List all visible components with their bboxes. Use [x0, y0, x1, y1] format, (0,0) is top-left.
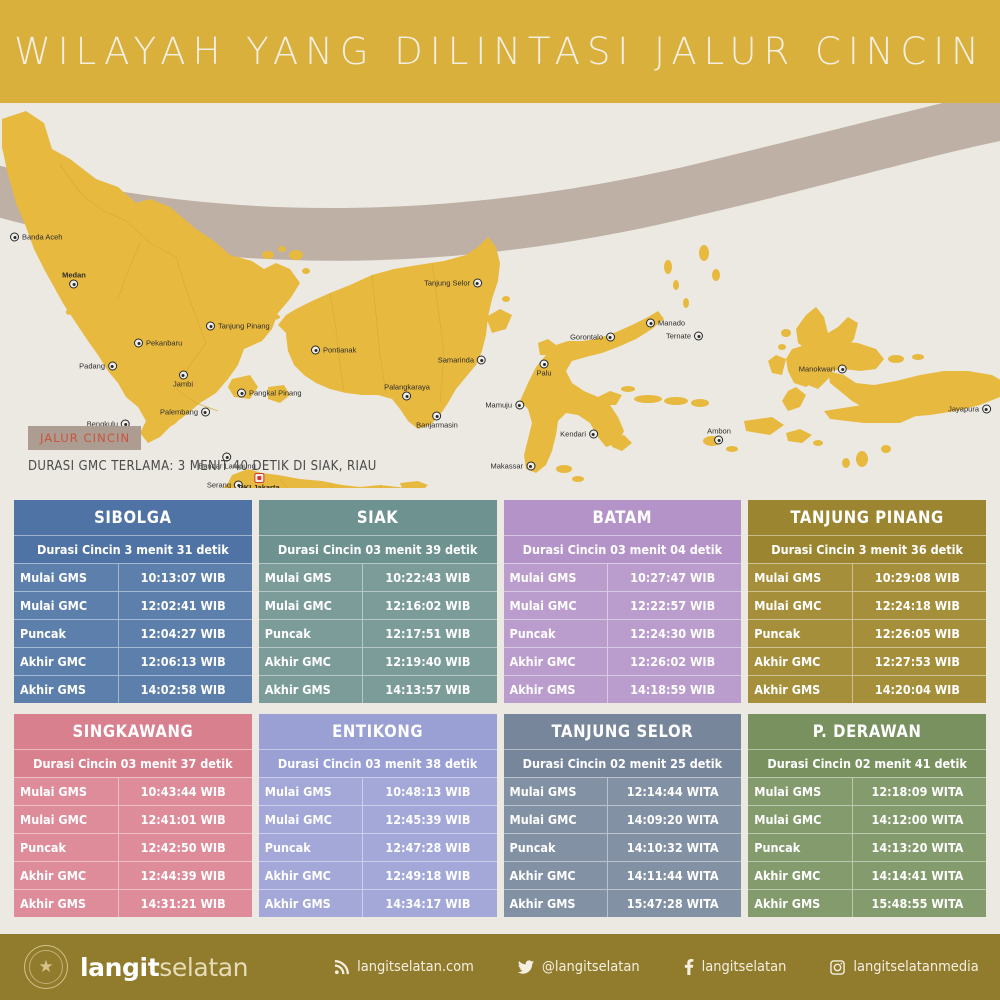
- timing-label: Puncak: [504, 834, 609, 861]
- timing-value: 14:20:04 WIB: [853, 676, 986, 703]
- timing-value: 12:18:09 WITA: [853, 778, 986, 805]
- brand-name-light: selatan: [159, 953, 248, 982]
- card-timing-row: Akhir GMS14:31:21 WIB: [14, 889, 252, 917]
- timing-label: Puncak: [748, 834, 853, 861]
- city-marker: Banjarmasin: [416, 412, 458, 431]
- city-card: SIAKDurasi Cincin 03 menit 39 detikMulai…: [259, 500, 497, 703]
- timing-value: 12:17:51 WIB: [363, 620, 496, 647]
- brand-name-bold: langit: [80, 953, 159, 982]
- card-city-title: SIBOLGA: [14, 500, 252, 535]
- city-dot-icon: [69, 280, 78, 289]
- city-dot-icon: [108, 362, 117, 371]
- timing-value: 12:47:28 WIB: [363, 834, 496, 861]
- city-dot-icon: [515, 401, 524, 410]
- timing-label: Akhir GMS: [259, 676, 364, 703]
- social-link[interactable]: langitselatan.com: [334, 959, 474, 975]
- timing-value: 12:24:30 WIB: [608, 620, 741, 647]
- social-handle: langitselatan: [702, 959, 787, 975]
- card-timing-row: Mulai GMS10:43:44 WIB: [14, 777, 252, 805]
- twitter-icon: [518, 960, 534, 975]
- card-timing-row: Mulai GMS12:14:44 WITA: [504, 777, 742, 805]
- city-dot-icon: [178, 371, 187, 380]
- city-dot-icon: [403, 392, 412, 401]
- timing-label: Akhir GMC: [259, 648, 364, 675]
- timing-value: 12:06:13 WIB: [119, 648, 252, 675]
- timing-value: 14:12:00 WITA: [853, 806, 986, 833]
- instagram-icon: [830, 960, 845, 975]
- city-card: P. DERAWANDurasi Cincin 02 menit 41 deti…: [748, 714, 986, 917]
- social-handle: langitselatanmedia: [853, 959, 978, 975]
- card-timing-row: Mulai GMC14:09:20 WITA: [504, 805, 742, 833]
- card-city-title: TANJUNG PINANG: [748, 500, 986, 535]
- timing-label: Akhir GMS: [14, 890, 119, 917]
- langitselatan-seal-icon: ★: [24, 945, 68, 989]
- city-marker: Pangkal Pinang: [237, 389, 302, 398]
- city-dot-icon: [838, 365, 847, 374]
- timing-label: Mulai GMS: [259, 778, 364, 805]
- city-label: Jambi: [173, 380, 193, 389]
- card-timing-row: Puncak12:26:05 WIB: [748, 619, 986, 647]
- city-marker: Tanjung Pinang: [206, 322, 270, 331]
- timing-label: Puncak: [748, 620, 853, 647]
- social-link[interactable]: @langitselatan: [518, 959, 640, 975]
- city-label: Pekanbaru: [146, 339, 182, 348]
- city-marker: Pekanbaru: [134, 339, 182, 348]
- timing-value: 10:13:07 WIB: [119, 564, 252, 591]
- timing-label: Mulai GMS: [504, 564, 609, 591]
- city-dot-icon: [526, 462, 535, 471]
- legend-note: DURASI GMC TERLAMA: 3 MENIT 40 DETIK DI …: [28, 459, 377, 474]
- timing-label: Akhir GMC: [14, 648, 119, 675]
- city-dot-icon: [311, 346, 320, 355]
- capital-city-dot-icon: [254, 473, 264, 483]
- city-label: Mamuju: [485, 401, 512, 410]
- timing-value: 12:42:50 WIB: [119, 834, 252, 861]
- city-marker: DKI Jakarta: [238, 473, 279, 488]
- brand-wordmark: langitselatan: [80, 953, 248, 982]
- timing-label: Mulai GMS: [14, 564, 119, 591]
- page-footer: ★ langitselatan langitselatan.com@langit…: [0, 934, 1000, 1000]
- timing-label: Puncak: [504, 620, 609, 647]
- brand-logo: ★ langitselatan: [24, 945, 248, 989]
- timing-value: 10:22:43 WIB: [363, 564, 496, 591]
- card-timing-row: Akhir GMC12:19:40 WIB: [259, 647, 497, 675]
- city-marker: Palembang: [160, 408, 210, 417]
- city-label: Makassar: [490, 462, 523, 471]
- timing-value: 12:49:18 WIB: [363, 862, 496, 889]
- card-timing-row: Mulai GMC12:24:18 WIB: [748, 591, 986, 619]
- card-timing-row: Mulai GMS10:13:07 WIB: [14, 563, 252, 591]
- city-label: Pangkal Pinang: [249, 389, 302, 398]
- card-timing-row: Mulai GMC12:16:02 WIB: [259, 591, 497, 619]
- timing-label: Akhir GMC: [748, 648, 853, 675]
- timing-value: 14:31:21 WIB: [119, 890, 252, 917]
- timing-value: 15:48:55 WITA: [853, 890, 986, 917]
- card-city-title: SINGKAWANG: [14, 714, 252, 749]
- timing-label: Akhir GMC: [504, 862, 609, 889]
- timing-label: Mulai GMC: [748, 806, 853, 833]
- timing-value: 14:14:41 WITA: [853, 862, 986, 889]
- city-dot-icon: [606, 333, 615, 342]
- legend-jalur-cincin-badge: JALUR CINCIN: [28, 426, 141, 450]
- card-city-title: BATAM: [504, 500, 742, 535]
- card-timing-row: Mulai GMC12:41:01 WIB: [14, 805, 252, 833]
- city-marker: Banda Aceh: [10, 233, 62, 242]
- timing-value: 12:24:18 WIB: [853, 592, 986, 619]
- city-marker: Medan: [62, 270, 86, 289]
- timing-value: 12:44:39 WIB: [119, 862, 252, 889]
- city-dot-icon: [201, 408, 210, 417]
- card-duration-subtitle: Durasi Cincin 03 menit 38 detik: [259, 749, 497, 777]
- timing-label: Mulai GMC: [504, 592, 609, 619]
- timing-value: 10:43:44 WIB: [119, 778, 252, 805]
- city-dot-icon: [134, 339, 143, 348]
- timing-value: 12:26:05 WIB: [853, 620, 986, 647]
- city-marker: Palangkaraya: [384, 382, 430, 401]
- timing-label: Mulai GMC: [14, 592, 119, 619]
- timing-label: Akhir GMC: [259, 862, 364, 889]
- card-timing-row: Akhir GMC12:49:18 WIB: [259, 861, 497, 889]
- city-marker: Mamuju: [485, 401, 524, 410]
- city-marker: Jambi: [173, 371, 193, 390]
- timing-label: Puncak: [259, 834, 364, 861]
- timing-label: Mulai GMS: [748, 778, 853, 805]
- city-marker: Tanjung Selor: [424, 279, 482, 288]
- card-duration-subtitle: Durasi Cincin 03 menit 39 detik: [259, 535, 497, 563]
- timing-value: 12:16:02 WIB: [363, 592, 496, 619]
- timing-value: 15:47:28 WITA: [608, 890, 741, 917]
- city-marker: Jayapura: [948, 405, 991, 414]
- timing-value: 12:14:44 WITA: [608, 778, 741, 805]
- card-timing-row: Mulai GMS10:29:08 WIB: [748, 563, 986, 591]
- city-marker: Pontianak: [311, 346, 356, 355]
- city-label: Palangkaraya: [384, 383, 430, 392]
- city-label: Ternate: [666, 332, 691, 341]
- city-dot-icon: [646, 319, 655, 328]
- city-label: DKI Jakarta: [238, 483, 279, 488]
- card-timing-row: Mulai GMC14:12:00 WITA: [748, 805, 986, 833]
- timing-value: 10:48:13 WIB: [363, 778, 496, 805]
- city-card: TANJUNG SELORDurasi Cincin 02 menit 25 d…: [504, 714, 742, 917]
- city-label: Pontianak: [323, 346, 356, 355]
- city-marker: Gorontalo: [570, 333, 615, 342]
- card-city-title: P. DERAWAN: [748, 714, 986, 749]
- card-timing-row: Akhir GMC12:44:39 WIB: [14, 861, 252, 889]
- card-timing-row: Akhir GMC14:11:44 WITA: [504, 861, 742, 889]
- timing-value: 10:29:08 WIB: [853, 564, 986, 591]
- card-timing-row: Akhir GMS14:13:57 WIB: [259, 675, 497, 703]
- city-dot-icon: [477, 356, 486, 365]
- social-link[interactable]: langitselatanmedia: [830, 959, 978, 975]
- city-dot-icon: [589, 430, 598, 439]
- map-legend: JALUR CINCIN DURASI GMC TERLAMA: 3 MENIT…: [28, 426, 377, 474]
- timing-value: 12:41:01 WIB: [119, 806, 252, 833]
- timing-label: Mulai GMC: [259, 592, 364, 619]
- timing-label: Mulai GMS: [504, 778, 609, 805]
- card-timing-row: Puncak14:10:32 WITA: [504, 833, 742, 861]
- city-label: Banjarmasin: [416, 421, 458, 430]
- timing-value: 12:45:39 WIB: [363, 806, 496, 833]
- city-label: Ambon: [707, 427, 731, 436]
- city-label: Padang: [79, 362, 105, 371]
- timing-label: Akhir GMS: [748, 676, 853, 703]
- timing-label: Akhir GMC: [748, 862, 853, 889]
- city-label: Serang: [207, 481, 231, 489]
- city-label: Tanjung Pinang: [218, 322, 270, 331]
- city-dot-icon: [10, 233, 19, 242]
- social-handle: langitselatan.com: [357, 959, 474, 975]
- card-timing-row: Akhir GMS14:18:59 WIB: [504, 675, 742, 703]
- timing-label: Puncak: [14, 620, 119, 647]
- city-label: Manado: [658, 319, 685, 328]
- timing-label: Mulai GMS: [259, 564, 364, 591]
- city-dot-icon: [433, 412, 442, 421]
- timing-label: Puncak: [14, 834, 119, 861]
- card-timing-row: Puncak12:24:30 WIB: [504, 619, 742, 647]
- card-timing-row: Akhir GMC14:14:41 WITA: [748, 861, 986, 889]
- card-duration-subtitle: Durasi Cincin 3 menit 36 detik: [748, 535, 986, 563]
- card-timing-row: Puncak14:13:20 WITA: [748, 833, 986, 861]
- card-duration-subtitle: Durasi Cincin 02 menit 25 detik: [504, 749, 742, 777]
- timing-label: Akhir GMC: [504, 648, 609, 675]
- card-timing-row: Mulai GMS10:48:13 WIB: [259, 777, 497, 805]
- timing-label: Akhir GMC: [14, 862, 119, 889]
- city-marker: Padang: [79, 362, 117, 371]
- card-timing-row: Puncak12:42:50 WIB: [14, 833, 252, 861]
- city-label: Samarinda: [438, 356, 474, 365]
- card-timing-row: Akhir GMS14:20:04 WIB: [748, 675, 986, 703]
- city-card: SINGKAWANGDurasi Cincin 03 menit 37 deti…: [14, 714, 252, 917]
- social-link[interactable]: langitselatan: [684, 959, 787, 975]
- card-duration-subtitle: Durasi Cincin 3 menit 31 detik: [14, 535, 252, 563]
- timing-value: 12:04:27 WIB: [119, 620, 252, 647]
- timing-value: 14:13:57 WIB: [363, 676, 496, 703]
- card-timing-row: Akhir GMS15:47:28 WITA: [504, 889, 742, 917]
- card-duration-subtitle: Durasi Cincin 03 menit 37 detik: [14, 749, 252, 777]
- city-timing-cards: SIBOLGADurasi Cincin 3 menit 31 detikMul…: [0, 488, 1000, 917]
- card-timing-row: Akhir GMC12:06:13 WIB: [14, 647, 252, 675]
- timing-label: Mulai GMC: [748, 592, 853, 619]
- card-city-title: ENTIKONG: [259, 714, 497, 749]
- timing-label: Mulai GMS: [748, 564, 853, 591]
- timing-value: 14:34:17 WIB: [363, 890, 496, 917]
- card-timing-row: Puncak12:04:27 WIB: [14, 619, 252, 647]
- timing-label: Mulai GMS: [14, 778, 119, 805]
- city-dot-icon: [237, 389, 246, 398]
- page-title: WILAYAH YANG DILINTASI JALUR CINCIN: [14, 30, 986, 73]
- city-label: Kendari: [560, 430, 586, 439]
- city-card: SIBOLGADurasi Cincin 3 menit 31 detikMul…: [14, 500, 252, 703]
- timing-label: Akhir GMS: [504, 890, 609, 917]
- timing-value: 12:26:02 WIB: [608, 648, 741, 675]
- city-marker: Makassar: [490, 462, 535, 471]
- city-card: ENTIKONGDurasi Cincin 03 menit 38 detikM…: [259, 714, 497, 917]
- card-timing-row: Mulai GMC12:02:41 WIB: [14, 591, 252, 619]
- infographic-page: WILAYAH YANG DILINTASI JALUR CINCIN: [0, 0, 1000, 1000]
- timing-value: 14:02:58 WIB: [119, 676, 252, 703]
- city-dot-icon: [539, 360, 548, 369]
- card-timing-row: Puncak12:47:28 WIB: [259, 833, 497, 861]
- card-timing-row: Akhir GMS15:48:55 WITA: [748, 889, 986, 917]
- card-timing-row: Mulai GMC12:22:57 WIB: [504, 591, 742, 619]
- timing-value: 10:27:47 WIB: [608, 564, 741, 591]
- timing-value: 12:19:40 WIB: [363, 648, 496, 675]
- timing-label: Akhir GMS: [259, 890, 364, 917]
- city-label: Palembang: [160, 408, 198, 417]
- city-label: Medan: [62, 271, 86, 280]
- card-timing-row: Akhir GMC12:27:53 WIB: [748, 647, 986, 675]
- indonesia-map: Banda AcehMedanTanjung PinangPekanbaruPa…: [0, 103, 1000, 488]
- card-timing-row: Mulai GMC12:45:39 WIB: [259, 805, 497, 833]
- city-marker: Ternate: [666, 332, 703, 341]
- timing-value: 12:02:41 WIB: [119, 592, 252, 619]
- card-timing-row: Akhir GMC12:26:02 WIB: [504, 647, 742, 675]
- city-card: BATAMDurasi Cincin 03 menit 04 detikMula…: [504, 500, 742, 703]
- timing-label: Akhir GMS: [14, 676, 119, 703]
- timing-value: 14:18:59 WIB: [608, 676, 741, 703]
- city-marker: Kendari: [560, 430, 598, 439]
- card-city-title: SIAK: [259, 500, 497, 535]
- city-marker: Manokwari: [799, 365, 847, 374]
- city-marker: Samarinda: [438, 356, 486, 365]
- timing-label: Akhir GMS: [504, 676, 609, 703]
- city-label: Banda Aceh: [22, 233, 62, 242]
- timing-value: 12:27:53 WIB: [853, 648, 986, 675]
- timing-label: Puncak: [259, 620, 364, 647]
- city-card: TANJUNG PINANGDurasi Cincin 3 menit 36 d…: [748, 500, 986, 703]
- timing-value: 12:22:57 WIB: [608, 592, 741, 619]
- timing-value: 14:11:44 WITA: [608, 862, 741, 889]
- city-marker: Manado: [646, 319, 685, 328]
- card-timing-row: Mulai GMS10:27:47 WIB: [504, 563, 742, 591]
- card-timing-row: Akhir GMS14:34:17 WIB: [259, 889, 497, 917]
- social-links: langitselatan.com@langitselatanlangitsel…: [334, 959, 979, 975]
- city-dot-icon: [982, 405, 991, 414]
- city-label: Palu: [536, 369, 551, 378]
- rss-icon: [334, 960, 349, 975]
- timing-label: Akhir GMS: [748, 890, 853, 917]
- timing-label: Mulai GMC: [259, 806, 364, 833]
- facebook-icon: [684, 959, 694, 975]
- card-duration-subtitle: Durasi Cincin 02 menit 41 detik: [748, 749, 986, 777]
- card-duration-subtitle: Durasi Cincin 03 menit 04 detik: [504, 535, 742, 563]
- timing-label: Mulai GMC: [14, 806, 119, 833]
- city-label: Gorontalo: [570, 333, 603, 342]
- city-marker: Palu: [536, 360, 551, 379]
- card-timing-row: Akhir GMS14:02:58 WIB: [14, 675, 252, 703]
- page-header: WILAYAH YANG DILINTASI JALUR CINCIN: [0, 0, 1000, 103]
- city-dot-icon: [694, 332, 703, 341]
- city-label: Jayapura: [948, 405, 979, 414]
- city-marker: Ambon: [707, 426, 731, 445]
- timing-value: 14:09:20 WITA: [608, 806, 741, 833]
- card-timing-row: Mulai GMS12:18:09 WITA: [748, 777, 986, 805]
- card-timing-row: Puncak12:17:51 WIB: [259, 619, 497, 647]
- timing-value: 14:10:32 WITA: [608, 834, 741, 861]
- timing-label: Mulai GMC: [504, 806, 609, 833]
- social-handle: @langitselatan: [542, 959, 640, 975]
- city-dot-icon: [473, 279, 482, 288]
- city-label: Tanjung Selor: [424, 279, 470, 288]
- card-timing-row: Mulai GMS10:22:43 WIB: [259, 563, 497, 591]
- city-dot-icon: [714, 436, 723, 445]
- city-dot-icon: [206, 322, 215, 331]
- city-label: Manokwari: [799, 365, 835, 374]
- card-city-title: TANJUNG SELOR: [504, 714, 742, 749]
- timing-value: 14:13:20 WITA: [853, 834, 986, 861]
